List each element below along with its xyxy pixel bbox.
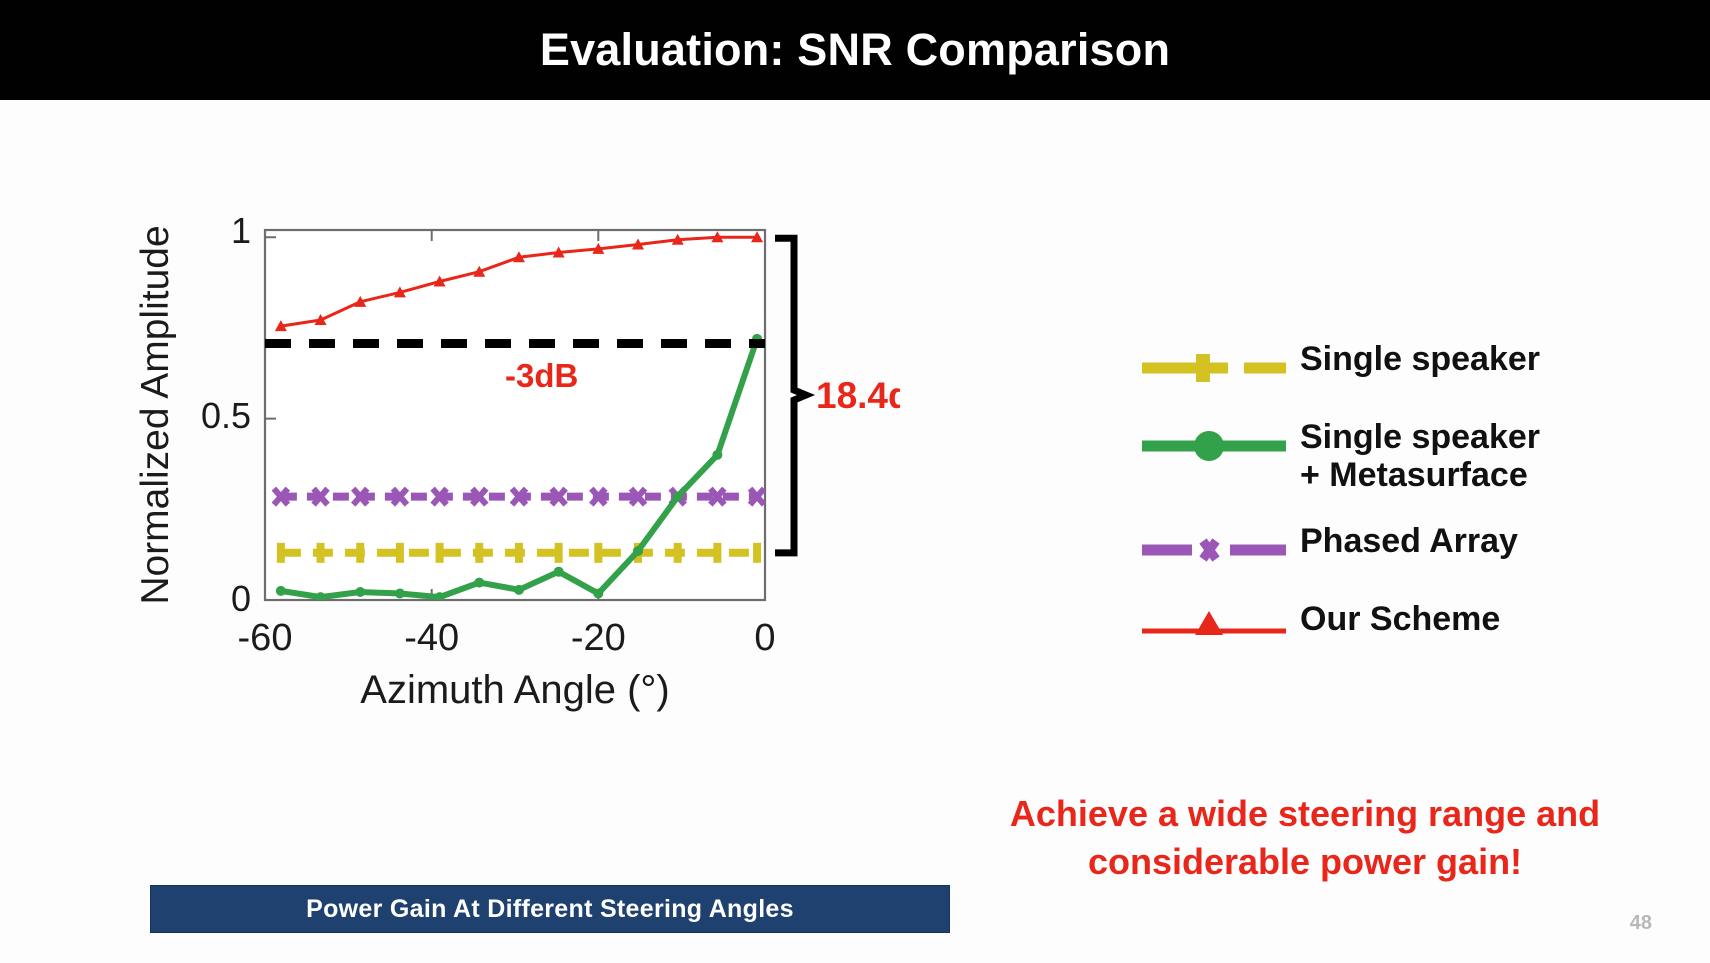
legend-label-metasurface: Single speaker + Metasurface [1288,418,1540,494]
page-title: Evaluation: SNR Comparison [540,24,1170,76]
data-point [753,543,761,563]
gain-value-label: 18.4dB [816,375,900,416]
legend-label-single-speaker: Single speaker [1288,340,1540,378]
legend-label-phased-array: Phased Array [1288,522,1518,560]
legend-label-our-scheme: Our Scheme [1288,600,1500,638]
chart-canvas: -3dB 18.4dB 1 0.5 0 -60 -40 -20 0 Azimut… [130,195,900,875]
x-tick-label-minus60: -60 [238,617,293,659]
conclusion-line-2: considerable power gain! [955,838,1655,886]
data-point [712,450,722,460]
data-point [317,543,325,563]
chart-legend: Single speaker Single speaker + Metasurf… [1140,340,1660,678]
data-point [554,567,564,577]
figure-caption-bar: Power Gain At Different Steering Angles [150,885,950,933]
figure-caption-text: Power Gain At Different Steering Angles [306,895,794,924]
legend-swatch-our-scheme [1140,606,1288,650]
conclusion-text: Achieve a wide steering range and consid… [955,790,1655,885]
legend-swatch-single-speaker [1140,346,1288,390]
data-point [475,543,483,563]
data-point [474,578,484,588]
data-point [674,543,682,563]
slide-body: -3dB 18.4dB 1 0.5 0 -60 -40 -20 0 Azimut… [0,100,1710,963]
y-axis-title: Normalized Amplitude [134,225,177,604]
circle-marker-icon [1194,431,1224,461]
y-tick-label-0-5: 0.5 [201,395,251,436]
data-point [515,543,523,563]
data-point [276,586,286,596]
data-point [277,543,285,563]
data-point [673,492,683,502]
gain-bracket [775,238,806,553]
x-marker-icon [1203,541,1216,559]
legend-swatch-phased-array [1140,528,1288,572]
data-point [514,585,524,595]
data-point [713,543,721,563]
slide-title-bar: Evaluation: SNR Comparison [0,0,1710,100]
data-point [356,543,364,563]
legend-item-our-scheme: Our Scheme [1140,600,1660,650]
legend-item-single-speaker-metasurface: Single speaker + Metasurface [1140,418,1660,494]
minus-3db-label: -3dB [505,357,578,394]
legend-swatch-metasurface [1140,424,1288,468]
x-tick-label-minus40: -40 [404,617,459,659]
page-number: 48 [1630,912,1652,935]
data-point [355,587,365,597]
data-point [395,588,405,598]
x-axis-title: Azimuth Angle (°) [360,668,669,712]
data-point [633,546,643,556]
data-point [436,543,444,563]
triangle-marker-icon [1195,611,1223,635]
plus-marker-icon [1196,354,1210,382]
data-point [396,543,404,563]
y-tick-label-1: 1 [231,210,251,251]
y-tick-label-0: 0 [231,578,251,619]
power-gain-chart: -3dB 18.4dB 1 0.5 0 -60 -40 -20 0 Azimut… [130,195,900,875]
data-point [594,543,602,563]
data-point [593,588,603,598]
x-tick-label-0: 0 [754,617,775,659]
x-tick-label-minus20: -20 [571,617,626,659]
conclusion-line-1: Achieve a wide steering range and [955,790,1655,838]
data-point [555,543,563,563]
legend-item-phased-array: Phased Array [1140,522,1660,572]
legend-item-single-speaker: Single speaker [1140,340,1660,390]
